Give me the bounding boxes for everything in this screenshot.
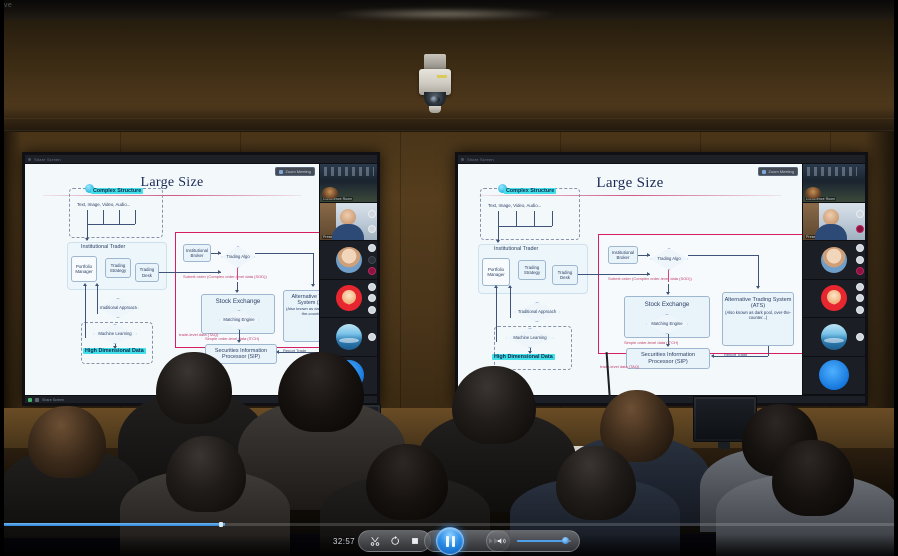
tile-control-pips[interactable]	[366, 280, 377, 318]
avatar	[821, 285, 847, 311]
audience-head	[452, 366, 536, 444]
meeting-info-icon	[762, 170, 766, 174]
node-portfolio-manager: Portfolio Manager	[71, 256, 97, 282]
volume-controls-group[interactable]	[486, 530, 580, 552]
zoom-logo-icon	[28, 158, 31, 161]
camera-pip-icon[interactable]	[856, 225, 864, 233]
camera-pip-icon[interactable]	[368, 256, 376, 264]
edge-label-simple-order: Simple order-level data (ITCH)	[624, 340, 678, 345]
avatar	[336, 324, 362, 350]
node-trading-strategy: Trading Strategy	[105, 258, 131, 278]
participant-tile[interactable]: Presenter	[803, 203, 865, 242]
participant-tile[interactable]	[803, 357, 865, 396]
highlight-high-dimensional-data: High Dimensional Data	[492, 354, 555, 360]
institutional-trader-label: Institutional Trader	[494, 246, 538, 252]
participant-tile[interactable]: Conference Room	[320, 164, 377, 203]
volume-icon[interactable]	[497, 536, 508, 547]
tool-controls-group[interactable]	[358, 530, 431, 552]
node-institutional-broker: Institutional Broker	[608, 246, 638, 264]
camera-pip-icon[interactable]	[368, 225, 376, 233]
node-ats-note: (Also known as dark pool, over-the-count…	[724, 311, 792, 321]
meeting-info-chip[interactable]: Zoom Meeting	[275, 167, 315, 176]
volume-slider[interactable]	[517, 540, 571, 542]
highlight-complex-structure: Complex Structure	[504, 188, 556, 194]
avatar	[821, 324, 847, 350]
node-ats-title: Alternative Trading System (ATS)	[724, 297, 792, 310]
zoom-titlebar-label: Share Screen	[467, 157, 494, 162]
audience-head	[166, 436, 246, 512]
avatar	[821, 247, 847, 273]
current-time-label: 32:57	[333, 537, 355, 546]
audience-head	[156, 352, 232, 424]
participant-tile[interactable]	[320, 280, 377, 319]
tile-control-pips[interactable]	[854, 280, 865, 318]
tile-control-pips[interactable]	[366, 203, 377, 241]
zoom-toolbar-label: Share Screen	[42, 398, 64, 402]
mic-pip-icon[interactable]	[856, 210, 864, 218]
meeting-info-label: Zoom Meeting	[768, 169, 794, 174]
avatar	[336, 247, 362, 273]
highlight-complex-structure: Complex Structure	[91, 188, 143, 194]
mic-pip-icon[interactable]	[368, 283, 376, 291]
participant-tile[interactable]	[320, 241, 377, 280]
node-ats-title: Alternative Trading System (ATS)	[285, 294, 319, 306]
seek-bar-progress	[0, 523, 225, 526]
camera-pip-icon[interactable]	[856, 256, 864, 264]
stop-icon[interactable]	[409, 536, 420, 547]
participant-tile[interactable]: Presenter	[320, 203, 377, 242]
modalities-label: Text, Image, Video, Audio...	[488, 203, 541, 208]
audience-head	[772, 440, 854, 516]
shared-screen-area: Zoom Meeting Large Size Complex Structur…	[458, 164, 802, 395]
edge-label-trade-level: trade-level data (TAQ)	[179, 332, 218, 337]
meeting-info-icon	[279, 170, 283, 174]
participant-tile[interactable]	[803, 241, 865, 280]
audience-head	[366, 444, 448, 520]
record-pip-icon[interactable]	[368, 267, 376, 275]
participant-tile[interactable]	[320, 318, 377, 357]
node-trading-desk: Trading Desk	[135, 263, 159, 282]
mic-pip-icon[interactable]	[856, 333, 864, 341]
tile-control-pips[interactable]	[366, 241, 377, 279]
cut-marker-icon[interactable]	[369, 536, 380, 547]
mic-pip-icon[interactable]	[856, 283, 864, 291]
mic-pip-icon[interactable]	[368, 210, 376, 218]
participant-filmstrip[interactable]: Conference Room Presenter	[802, 164, 865, 395]
complex-structure-group	[69, 188, 163, 238]
right-wall-display: Share Screen Zoom Meeting Large Size	[455, 152, 868, 406]
node-portfolio-manager: Portfolio Manager	[482, 258, 510, 286]
node-ats-note: (Also known as dark pool, over-the-count…	[285, 307, 319, 316]
media-player-controls[interactable]: 32:57	[0, 518, 898, 556]
presentation-slide: Large Size Complex Structure Text, Image…	[458, 164, 802, 395]
node-trading-strategy: Trading Strategy	[518, 260, 546, 280]
meeting-info-label: Zoom Meeting	[285, 169, 311, 174]
node-trading-desk: Trading Desk	[552, 265, 578, 285]
zoom-meeting-window: Share Screen Zoom Meeting Large Size	[458, 155, 865, 403]
mic-pip-icon[interactable]	[368, 244, 376, 252]
node-institutional-broker: Institutional Broker	[183, 244, 211, 262]
avatar	[819, 360, 849, 390]
tile-control-pips[interactable]	[854, 203, 865, 241]
node-ats: Alternative Trading System (ATS) (Also k…	[283, 290, 319, 342]
meeting-info-chip[interactable]: Zoom Meeting	[758, 167, 798, 176]
edge-label-submit-order: Submit order (Complex order-level data (…	[183, 274, 267, 279]
participant-tile[interactable]: Conference Room	[803, 164, 865, 203]
mic-pip-icon[interactable]	[368, 333, 376, 341]
tile-control-pips[interactable]	[854, 241, 865, 279]
zoom-titlebar: Share Screen	[25, 155, 377, 164]
node-traditional-approach: Traditional Approach	[514, 302, 560, 322]
tile-control-pips[interactable]	[366, 318, 377, 356]
participant-name: Conference Room	[322, 197, 353, 201]
participant-name: Presenter	[322, 235, 340, 239]
mute-icon[interactable]	[35, 398, 39, 402]
volume-slider-fill	[517, 540, 565, 542]
participant-tile[interactable]	[803, 280, 865, 319]
avatar	[336, 285, 362, 311]
rotate-icon[interactable]	[389, 536, 400, 547]
screenshot-root: Share Screen Zoom Meeting Large Size	[0, 0, 898, 556]
mic-pip-icon[interactable]	[856, 244, 864, 252]
zoom-titlebar-label: Share Screen	[34, 157, 61, 162]
record-pip-icon[interactable]	[856, 267, 864, 275]
node-ats: Alternative Trading System (ATS) (Also k…	[722, 292, 794, 346]
participant-name: Conference Room	[805, 197, 836, 201]
complex-structure-group	[480, 188, 580, 240]
participant-tile[interactable]	[803, 318, 865, 357]
tile-control-pips[interactable]	[854, 318, 865, 356]
zoom-logo-icon	[461, 158, 464, 161]
edge-label-submit-order: Submit order (Complex order-level data (…	[608, 276, 692, 281]
share-screen-icon[interactable]	[28, 398, 32, 402]
player-titlebar: ive	[0, 0, 898, 20]
more-pip-icon[interactable]	[856, 306, 864, 314]
audience-head	[28, 406, 106, 478]
camera-pip-icon[interactable]	[856, 294, 864, 302]
more-pip-icon[interactable]	[368, 306, 376, 314]
zoom-titlebar: Share Screen	[458, 155, 865, 164]
node-traditional-approach: Traditional Approach	[97, 298, 139, 318]
audience-head	[556, 446, 636, 520]
pause-button[interactable]	[436, 527, 464, 555]
volume-slider-handle[interactable]	[562, 537, 569, 544]
modalities-label: Text, Image, Video, Audio...	[77, 202, 130, 207]
audience-head	[278, 352, 364, 432]
institutional-trader-label: Institutional Trader	[81, 244, 125, 250]
seek-bar[interactable]	[0, 523, 898, 526]
camera-pip-icon[interactable]	[368, 294, 376, 302]
participant-name: Presenter	[805, 235, 823, 239]
seek-handle[interactable]	[219, 522, 223, 527]
